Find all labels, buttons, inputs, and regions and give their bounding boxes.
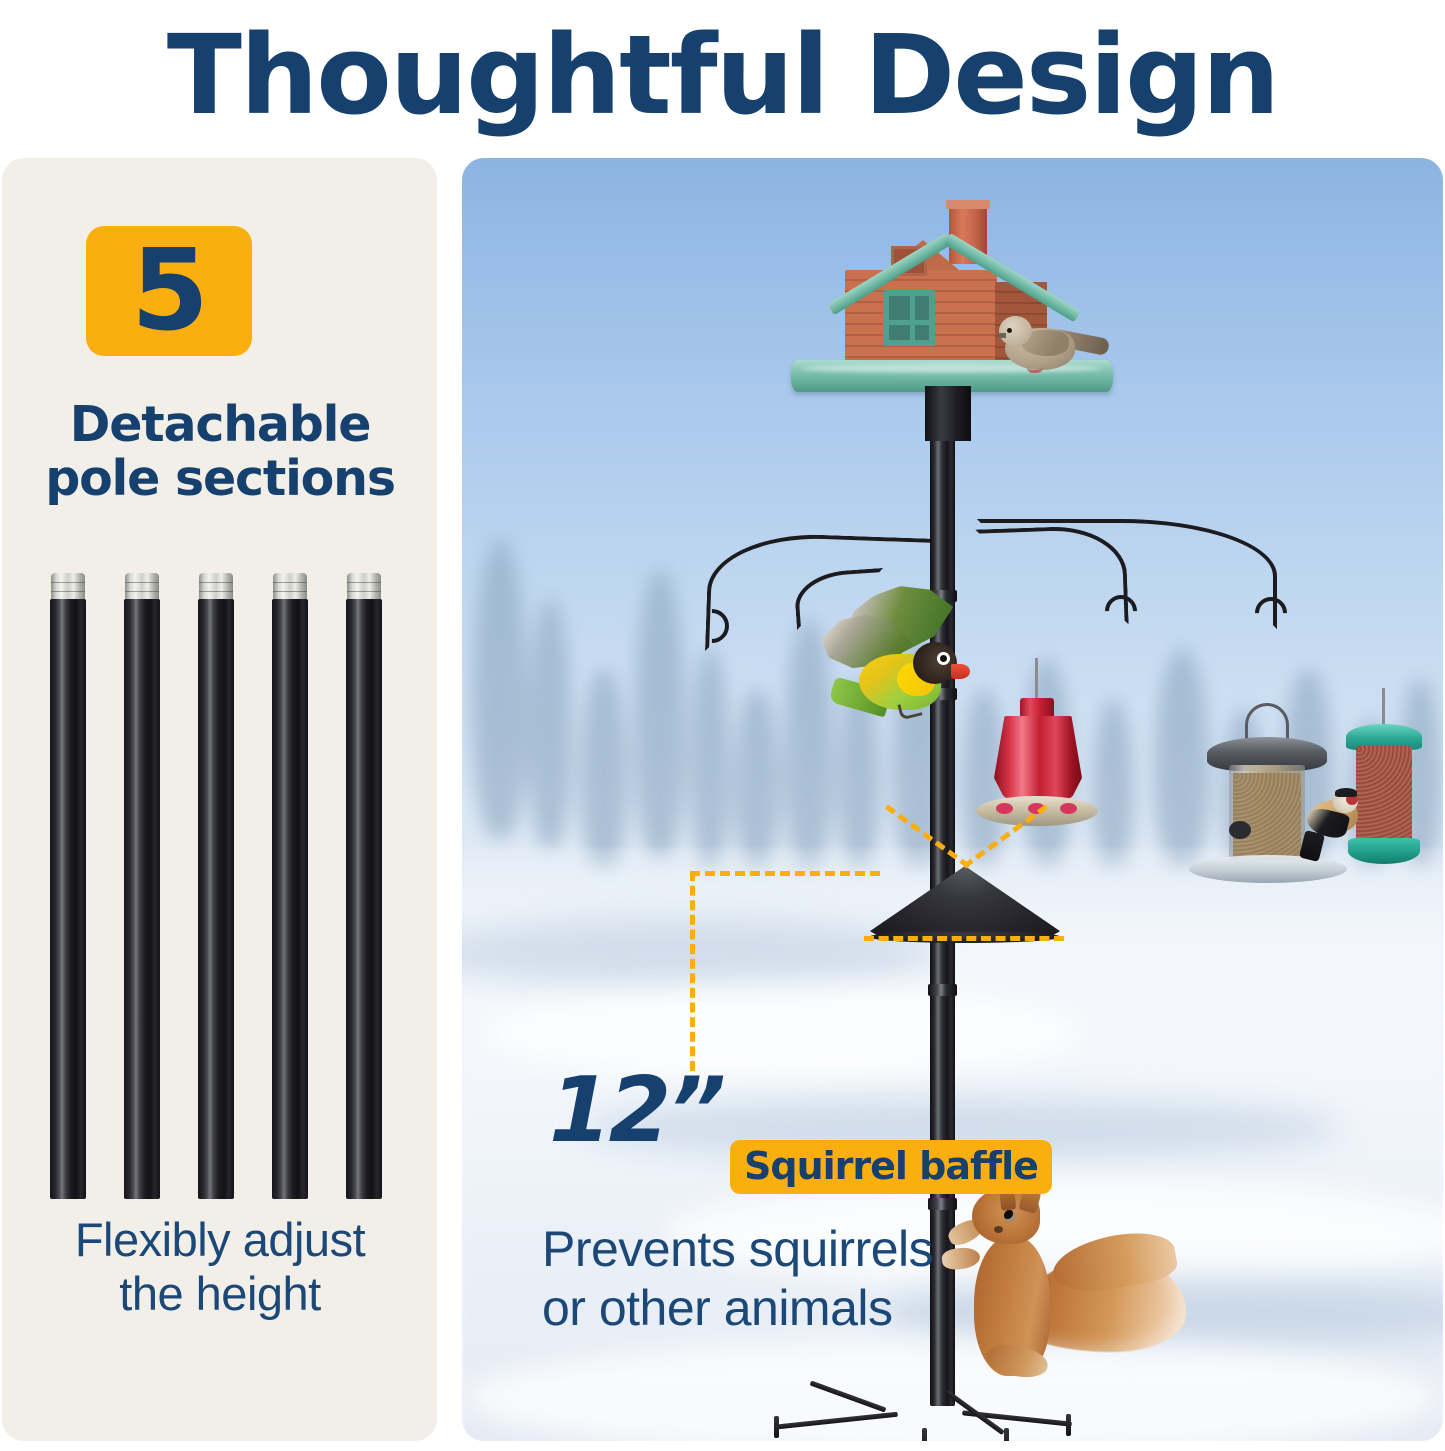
- pole-tube: [346, 599, 382, 1199]
- page-title: Thoughtful Design: [167, 20, 1278, 130]
- pole-threaded-cap: [347, 573, 381, 601]
- stake-prong-tip: [774, 1416, 779, 1438]
- stake-prong-tip: [922, 1428, 927, 1441]
- right-panel-caption: Prevents squirrels or other animals: [542, 1220, 1162, 1338]
- baffle-measure-line-horizontal: [690, 871, 880, 876]
- lovebird-beak: [951, 664, 970, 679]
- pole-tube: [50, 599, 86, 1199]
- cone-squirrel-baffle: [870, 858, 1060, 940]
- lovebird-head: [913, 642, 957, 684]
- feeder-seed-fill: [1233, 773, 1301, 859]
- right-panel-caption-line-1: Prevents squirrels: [542, 1220, 1162, 1279]
- feature-panels: 5 Detachable pole sections: [0, 152, 1445, 1444]
- pole-threaded-cap: [273, 573, 307, 601]
- detachable-pole-section: [346, 573, 382, 1198]
- detachable-pole-section: [272, 573, 308, 1198]
- dove-eye: [1007, 328, 1012, 333]
- nectar-port: [996, 803, 1013, 814]
- birdhouse-mounting-post: [925, 386, 971, 441]
- pole-threaded-cap: [125, 573, 159, 601]
- pole-joint: [928, 984, 957, 996]
- baffle-cone-surface: [870, 866, 1060, 940]
- dove-feet: [1027, 365, 1043, 373]
- lovebird-eye: [937, 652, 950, 665]
- finch-black-cap: [1335, 788, 1357, 797]
- detachable-pole-section: [198, 573, 234, 1198]
- feeder-hanger-loop: [1245, 703, 1289, 741]
- count-badge-number: 5: [131, 235, 207, 347]
- left-panel-caption-line-1: Flexibly adjust: [10, 1213, 430, 1267]
- left-panel-caption: Flexibly adjust the height: [10, 1213, 430, 1321]
- right-panel-caption-line-2: or other animals: [542, 1279, 1162, 1338]
- page-header: Thoughtful Design: [0, 0, 1445, 150]
- pole-sections-group: [2, 558, 437, 1198]
- left-panel-heading-line-1: Detachable: [14, 398, 426, 452]
- nectar-reservoir: [994, 716, 1082, 802]
- pole-tube: [198, 599, 234, 1199]
- baffle-size-label: 12”: [549, 1066, 723, 1156]
- left-panel-caption-line-2: the height: [10, 1267, 430, 1321]
- pole-threaded-cap: [51, 573, 85, 601]
- log-cabin-birdhouse: [787, 198, 1117, 413]
- birdhouse-window: [883, 290, 935, 346]
- pole-threaded-cap: [199, 573, 233, 601]
- nectar-port: [1060, 803, 1077, 814]
- left-feature-panel: 5 Detachable pole sections: [2, 158, 437, 1441]
- pole-tube: [272, 599, 308, 1199]
- european-goldfinch: [1302, 788, 1376, 864]
- mourning-dove: [997, 310, 1109, 372]
- hook-arm-right: [977, 519, 1277, 629]
- baffle-highlight-edge-bottom: [864, 936, 1064, 941]
- left-panel-heading: Detachable pole sections: [14, 398, 426, 506]
- squirrel-baffle-pill: Squirrel baffle: [730, 1140, 1052, 1194]
- yellow-collared-lovebird: [817, 588, 1007, 738]
- dove-head: [999, 316, 1032, 346]
- detachable-pole-section: [50, 573, 86, 1198]
- right-feature-panel: 12” Squirrel baffle Prevents squirrels o…: [462, 158, 1443, 1441]
- detachable-pole-section: [124, 573, 160, 1198]
- feeder-feeding-port: [1229, 821, 1251, 839]
- count-badge: 5: [86, 226, 252, 356]
- finch-tail: [1299, 830, 1325, 862]
- baffle-measure-line-vertical: [690, 871, 695, 1071]
- feeder-hanger-wire: [1035, 658, 1038, 702]
- left-panel-heading-line-2: pole sections: [14, 452, 426, 506]
- pole-tube: [124, 599, 160, 1199]
- dove-beak: [998, 333, 1006, 338]
